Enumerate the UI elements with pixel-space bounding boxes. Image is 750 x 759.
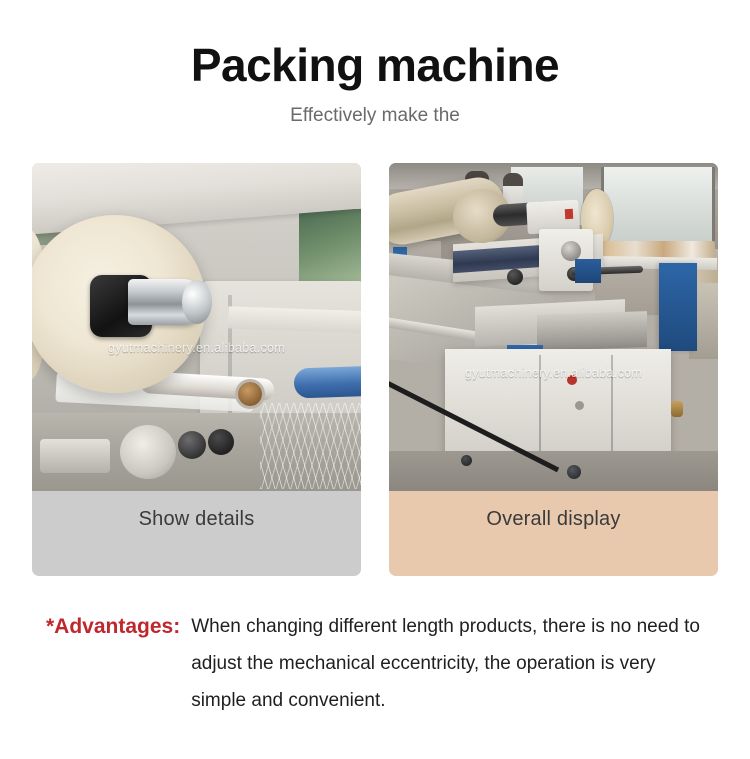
photo-show-details: gyutmachinery.en.alibaba.com (32, 163, 361, 491)
photo2-cabinet-door-seam-left (539, 355, 541, 459)
photo1-rod-end-cap (238, 382, 262, 406)
photo2-sealing-unit (537, 311, 647, 351)
card-caption-overall-display: Overall display (389, 491, 718, 576)
photo1-mech-knob-a (178, 431, 206, 459)
photo1-mech-drum (120, 425, 176, 479)
product-banner: Packing machine Effectively make the (0, 0, 750, 759)
photo2-knob-a (507, 269, 523, 285)
card-show-details[interactable]: gyutmachinery.en.alibaba.com Show detail… (32, 163, 361, 576)
page-title: Packing machine (0, 40, 750, 91)
photo1-shaft-cap (182, 280, 212, 324)
image-cards-row: gyutmachinery.en.alibaba.com Show detail… (32, 163, 718, 576)
photo2-cabinet-door-seam-right (611, 355, 613, 459)
photo1-mech-block (40, 439, 110, 473)
photo2-blue-plate (575, 259, 601, 283)
advantages-block: *Advantages: When changing different len… (46, 608, 720, 719)
photo2-handwheel (561, 241, 581, 261)
advantages-text: When changing different length products,… (191, 608, 701, 719)
photo1-film-mesh (260, 403, 361, 489)
photo2-window-b (601, 167, 715, 241)
card-overall-display[interactable]: gyutmachinery.en.alibaba.com Overall dis… (389, 163, 718, 576)
photo1-mech-knob-b (208, 429, 234, 455)
photo2-leveling-foot (671, 401, 683, 417)
photo2-cabinet-handle (575, 401, 584, 410)
photo-overall-display: gyutmachinery.en.alibaba.com (389, 163, 718, 491)
photo2-red-button (567, 375, 577, 385)
photo2-blue-column (659, 263, 697, 351)
card-caption-show-details: Show details (32, 491, 361, 576)
advantages-label: *Advantages: (46, 608, 180, 645)
photo2-caster-rear (461, 455, 472, 466)
photo1-blue-roller (294, 365, 361, 398)
photo2-roll-red-switch (565, 209, 574, 219)
photo2-caster-front (567, 465, 581, 479)
page-subtitle: Effectively make the (0, 105, 750, 128)
header: Packing machine Effectively make the (0, 40, 750, 127)
